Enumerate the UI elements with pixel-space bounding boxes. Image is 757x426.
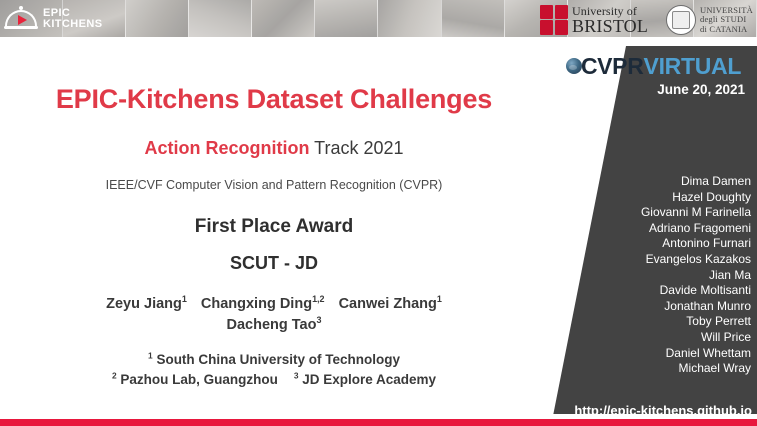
cvpr-wordmark: VPR [597, 53, 643, 80]
affiliation-marker: 1 [148, 351, 153, 361]
conference-name: IEEE/CVF Computer Vision and Pattern Rec… [0, 178, 548, 192]
photo-thumbnail [126, 0, 189, 37]
photo-thumbnail [189, 0, 252, 37]
affiliation-entry: 3 JD Explore Academy [294, 372, 436, 387]
author-name: Canwei Zhang1 [339, 296, 442, 312]
organiser-name: Will Price [561, 330, 751, 346]
organiser-name: Adriano Fragomeni [561, 221, 751, 237]
cvpr-globe-icon [566, 58, 582, 74]
university-of-catania-logo: UNIVERSITÀ degli STUDI di CATANIA [666, 4, 753, 36]
page-title: EPIC-Kitchens Dataset Challenges [0, 84, 548, 115]
epic-kitchens-logo: EPIC KITCHENS [4, 1, 122, 37]
bristol-line2: BRISTOL [572, 17, 648, 35]
track-rest: Track 2021 [309, 138, 403, 158]
photo-thumbnail [315, 0, 378, 37]
cvpr-virtual-wordmark: VIRTUAL [644, 53, 742, 80]
cvpr-virtual-logo: C VPR VIRTUAL [566, 54, 751, 78]
photo-thumbnail [252, 0, 315, 37]
author-affiliation-marker: 1 [182, 294, 187, 304]
university-of-bristol-logo: University of BRISTOL [540, 3, 648, 36]
affiliation-row: 1 South China University of Technology [0, 350, 548, 370]
slide-root: EPIC KITCHENS University of BRISTOL UNIV… [0, 0, 757, 426]
photo-thumbnail [378, 0, 441, 37]
author-name: Changxing Ding1,2 [201, 296, 325, 312]
organiser-name: Antonino Furnari [561, 236, 751, 252]
author-name: Zeyu Jiang1 [106, 296, 187, 312]
team-name: SCUT - JD [0, 253, 548, 274]
organiser-name: Daniel Whettam [561, 346, 751, 362]
bristol-crest-icon [540, 5, 568, 35]
author-row: Zeyu Jiang1Changxing Ding1,2Canwei Zhang… [0, 294, 548, 315]
affiliation-entry: 2 Pazhou Lab, Guangzhou [112, 372, 278, 387]
affiliation-list: 1 South China University of Technology2 … [0, 350, 548, 391]
cvpr-c-letter: C [581, 53, 597, 80]
affiliation-marker: 3 [294, 371, 299, 381]
organiser-name: Dima Damen [561, 174, 751, 190]
track-subtitle: Action Recognition Track 2021 [0, 138, 548, 159]
affiliation-marker: 2 [112, 371, 117, 381]
organiser-name: Davide Moltisanti [561, 283, 751, 299]
affiliation-entry: 1 South China University of Technology [148, 352, 400, 367]
organiser-name: Hazel Doughty [561, 190, 751, 206]
bristol-line1: University of [572, 5, 648, 17]
organiser-name: Jian Ma [561, 268, 751, 284]
author-row: Dacheng Tao3 [0, 315, 548, 336]
bottom-accent-bar [0, 419, 757, 426]
award-label: First Place Award [0, 216, 548, 238]
track-highlight: Action Recognition [144, 138, 309, 158]
author-list: Zeyu Jiang1Changxing Ding1,2Canwei Zhang… [0, 294, 548, 336]
organiser-name: Giovanni M Farinella [561, 205, 751, 221]
catania-seal-icon [666, 5, 696, 35]
catania-line3: di CATANIA [700, 25, 753, 34]
author-affiliation-marker: 1,2 [312, 294, 325, 304]
epic-logo-line2: KITCHENS [43, 19, 102, 30]
cvpr-date: June 20, 2021 [566, 82, 751, 97]
affiliation-row: 2 Pazhou Lab, Guangzhou3 JD Explore Acad… [0, 370, 548, 390]
author-affiliation-marker: 1 [437, 294, 442, 304]
photo-thumbnail [442, 0, 505, 37]
organiser-name: Jonathan Munro [561, 299, 751, 315]
organiser-name: Toby Perrett [561, 314, 751, 330]
organiser-name: Michael Wray [561, 361, 751, 377]
author-name: Dacheng Tao3 [227, 317, 322, 333]
cloche-play-icon [4, 6, 38, 32]
author-affiliation-marker: 3 [316, 315, 321, 325]
organiser-name: Evangelos Kazakos [561, 252, 751, 268]
organiser-names: Dima DamenHazel DoughtyGiovanni M Farine… [561, 174, 751, 377]
